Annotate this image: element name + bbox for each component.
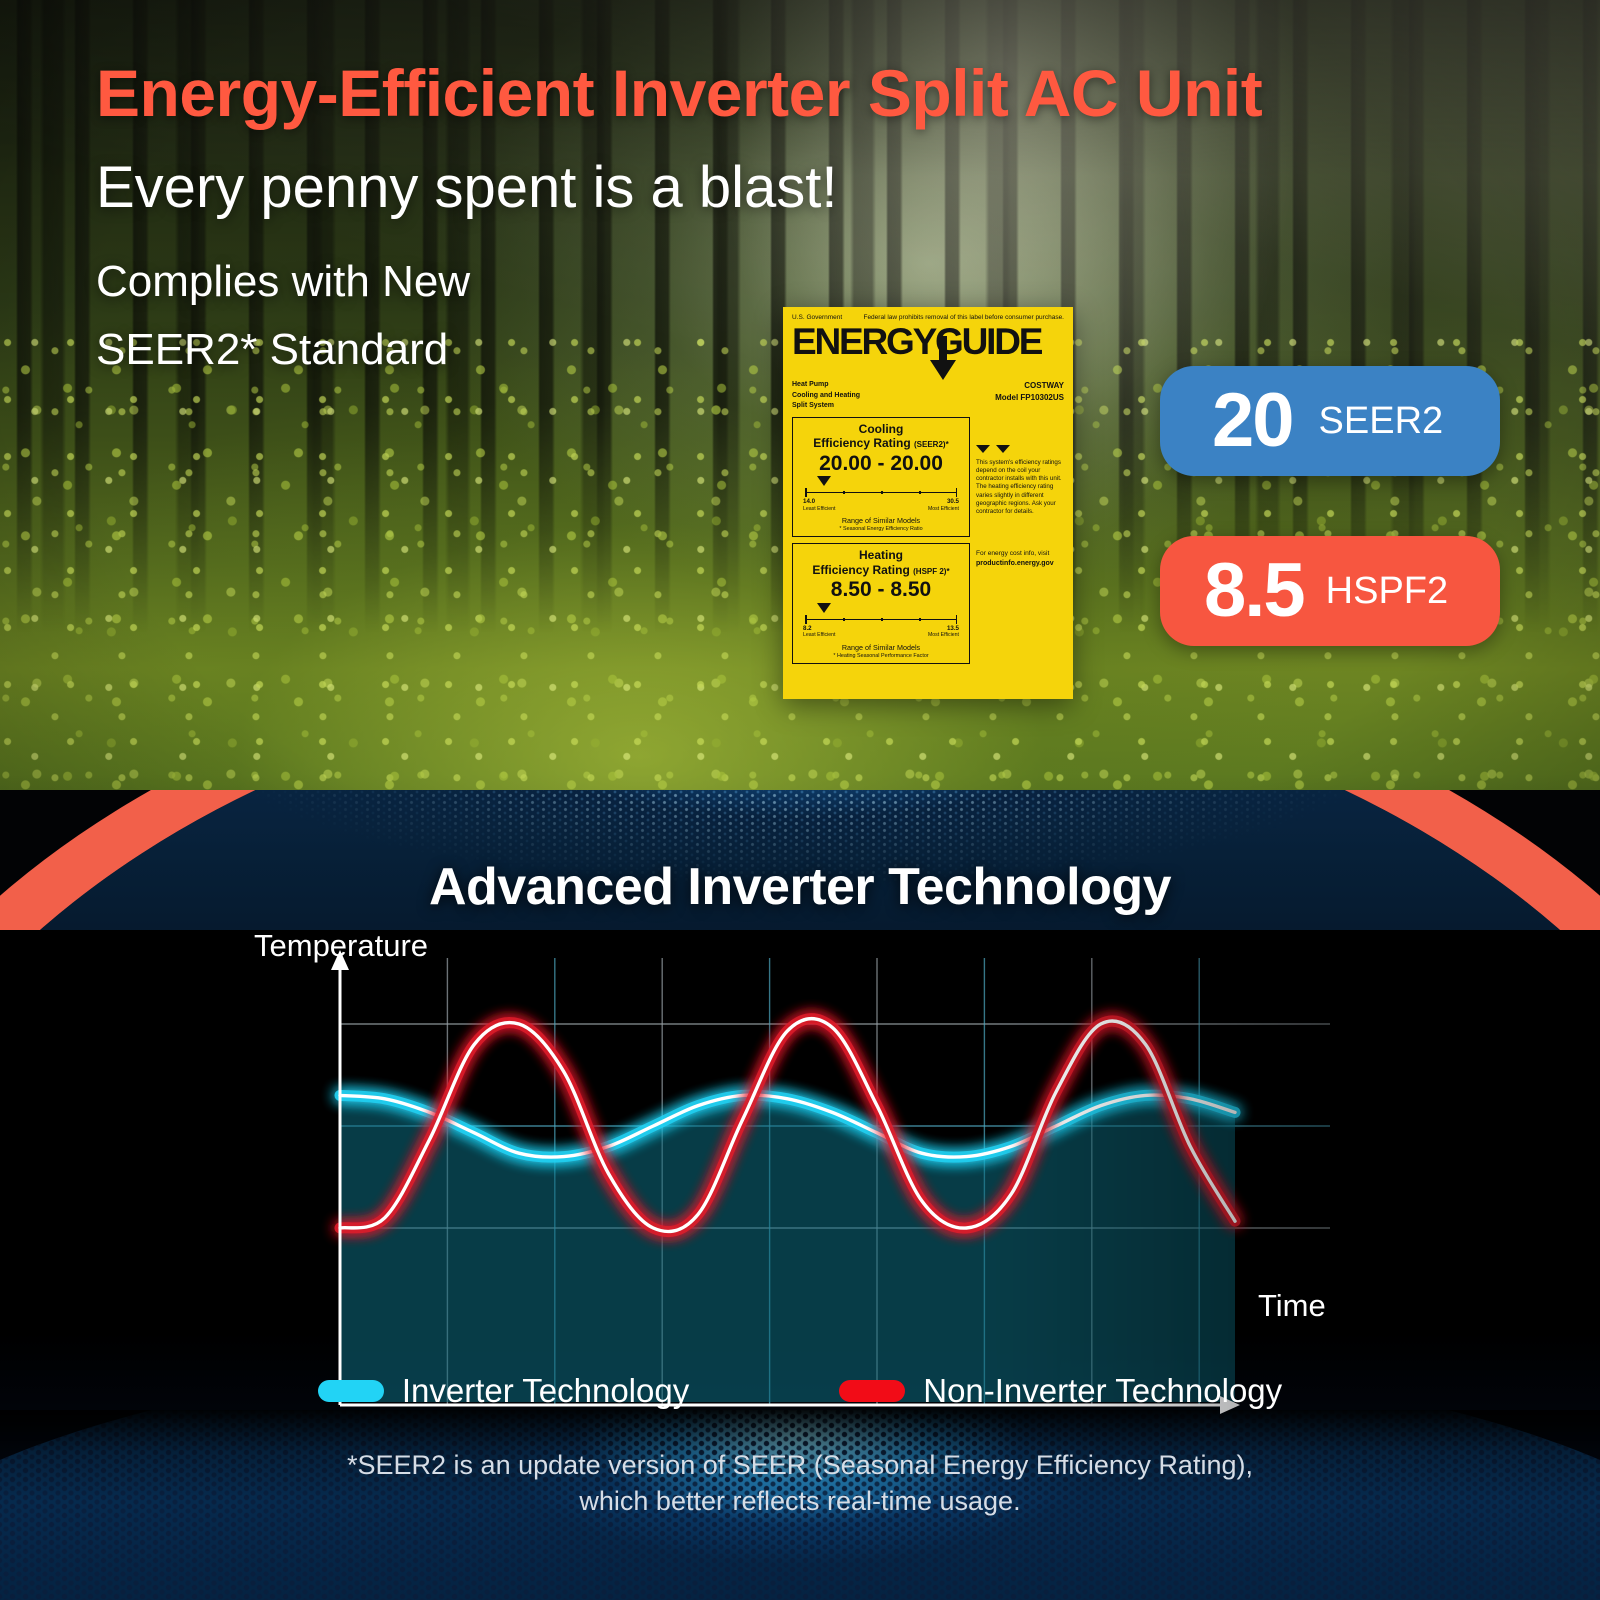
energyguide-side-note: This system's efficiency ratings depend … [976, 459, 1064, 516]
heating-footnote: * Heating Seasonal Performance Factor [799, 653, 963, 659]
energyguide-legal-text: Federal law prohibits removal of this la… [863, 314, 1064, 321]
energyguide-side-column: This system's efficiency ratings depend … [976, 417, 1064, 670]
cost-info-url: productinfo.energy.gov [976, 560, 1054, 567]
cooling-scale-max: 30.5 [947, 498, 959, 505]
seer2-footnote: *SEER2 is an update version of SEER (Sea… [0, 1447, 1600, 1520]
cooling-title: Cooling [799, 423, 963, 437]
product-type-line-2: Cooling and Heating [792, 391, 860, 402]
heating-most-label: Most Efficient [928, 632, 959, 639]
compliance-line-2: SEER2* Standard [96, 316, 856, 384]
section-title: Advanced Inverter Technology [0, 857, 1600, 917]
footnote-line-2: which better reflects real-time usage. [0, 1483, 1600, 1519]
heating-value: 8.50 - 8.50 [799, 578, 963, 602]
heating-subtitle: Efficiency Rating (HSPF 2)* [799, 563, 963, 577]
heating-metric: (HSPF 2)* [913, 567, 949, 576]
cooling-footnote: * Seasonal Energy Efficiency Ratio [799, 526, 963, 532]
footnote-line-1: *SEER2 is an update version of SEER (Sea… [0, 1447, 1600, 1483]
seer2-rating-badge: 20 SEER2 [1160, 366, 1500, 476]
energyguide-label: U.S. Government Federal law prohibits re… [783, 307, 1073, 699]
energyguide-wordmark-area: ENERGYGUIDE [792, 322, 1064, 364]
cooling-value: 20.00 - 20.00 [799, 452, 963, 476]
legend-item-inverter: Inverter Technology [318, 1372, 689, 1410]
cooling-range-label: Range of Similar Models [799, 516, 963, 525]
product-type-line-3: Split System [792, 401, 860, 412]
heating-title: Heating [799, 549, 963, 563]
compliance-line-1: Complies with New [96, 248, 856, 316]
chart-legend: Inverter Technology Non-Inverter Technol… [0, 1372, 1600, 1410]
legend-swatch-non-inverter [839, 1380, 905, 1402]
marketing-infographic: Energy-Efficient Inverter Split AC Unit … [0, 0, 1600, 1600]
energyguide-brand-block: COSTWAY Model FP10302US [995, 380, 1064, 412]
down-arrow-icon [928, 336, 958, 380]
legend-label-non-inverter: Non-Inverter Technology [923, 1372, 1282, 1410]
cooling-scale-min: 14.0 [803, 498, 815, 505]
legend-label-inverter: Inverter Technology [402, 1372, 689, 1410]
cooling-least-label: Least Efficient [803, 506, 836, 513]
energyguide-meta-row: Heat Pump Cooling and Heating Split Syst… [792, 380, 1064, 412]
seer2-label: SEER2 [1319, 400, 1444, 443]
compliance-text: Complies with New SEER2* Standard [96, 248, 856, 384]
heating-pointer [799, 603, 963, 614]
seer2-value: 20 [1212, 383, 1293, 459]
heating-scale [805, 615, 957, 624]
chart-x-axis-label: Time [1258, 1288, 1326, 1324]
energyguide-product-type: Heat Pump Cooling and Heating Split Syst… [792, 380, 860, 412]
heating-rating-box: Heating Efficiency Rating (HSPF 2)* 8.50… [792, 543, 970, 664]
model-number: Model FP10302US [995, 392, 1064, 404]
energyguide-gov-text: U.S. Government [792, 314, 842, 321]
hspf2-label: HSPF2 [1326, 570, 1448, 613]
heating-scale-max: 13.5 [947, 625, 959, 632]
cooling-pointer [799, 476, 963, 487]
cooling-subtitle-text: Efficiency Rating [813, 436, 910, 450]
cooling-scale [805, 488, 957, 497]
chart-y-axis-label: Temperature [254, 928, 428, 964]
cooling-subtitle: Efficiency Rating (SEER2)* [799, 436, 963, 450]
heating-range-label: Range of Similar Models [799, 643, 963, 652]
heating-least-label: Least Efficient [803, 632, 836, 639]
hspf2-value: 8.5 [1204, 553, 1304, 629]
cooling-scale-labels: 14.0Least Efficient 30.5Most Efficient [803, 498, 959, 512]
brand-name: COSTWAY [995, 380, 1064, 392]
double-arrow-icon [976, 445, 1018, 454]
page-headline: Energy-Efficient Inverter Split AC Unit [96, 58, 1516, 129]
heating-scale-labels: 8.2Least Efficient 13.5Most Efficient [803, 625, 959, 639]
hspf2-rating-badge: 8.5 HSPF2 [1160, 536, 1500, 646]
cooling-rating-box: Cooling Efficiency Rating (SEER2)* 20.00… [792, 417, 970, 538]
inverter-comparison-chart: Temperature [0, 920, 1600, 1350]
energyguide-ratings-column: Cooling Efficiency Rating (SEER2)* 20.00… [792, 417, 970, 670]
cooling-most-label: Most Efficient [928, 506, 959, 513]
cooling-metric: (SEER2)* [914, 440, 949, 449]
cost-info-line-1: For energy cost info, visit [976, 550, 1064, 559]
energyguide-body: Cooling Efficiency Rating (SEER2)* 20.00… [792, 417, 1064, 670]
energyguide-cost-info: For energy cost info, visit productinfo.… [976, 550, 1064, 569]
page-subheadline: Every penny spent is a blast! [96, 155, 1096, 222]
product-type-line-1: Heat Pump [792, 380, 860, 391]
heating-subtitle-text: Efficiency Rating [812, 563, 909, 577]
legend-swatch-inverter [318, 1380, 384, 1402]
legend-item-non-inverter: Non-Inverter Technology [839, 1372, 1282, 1410]
energyguide-top-row: U.S. Government Federal law prohibits re… [792, 314, 1064, 321]
heating-scale-min: 8.2 [803, 625, 812, 632]
